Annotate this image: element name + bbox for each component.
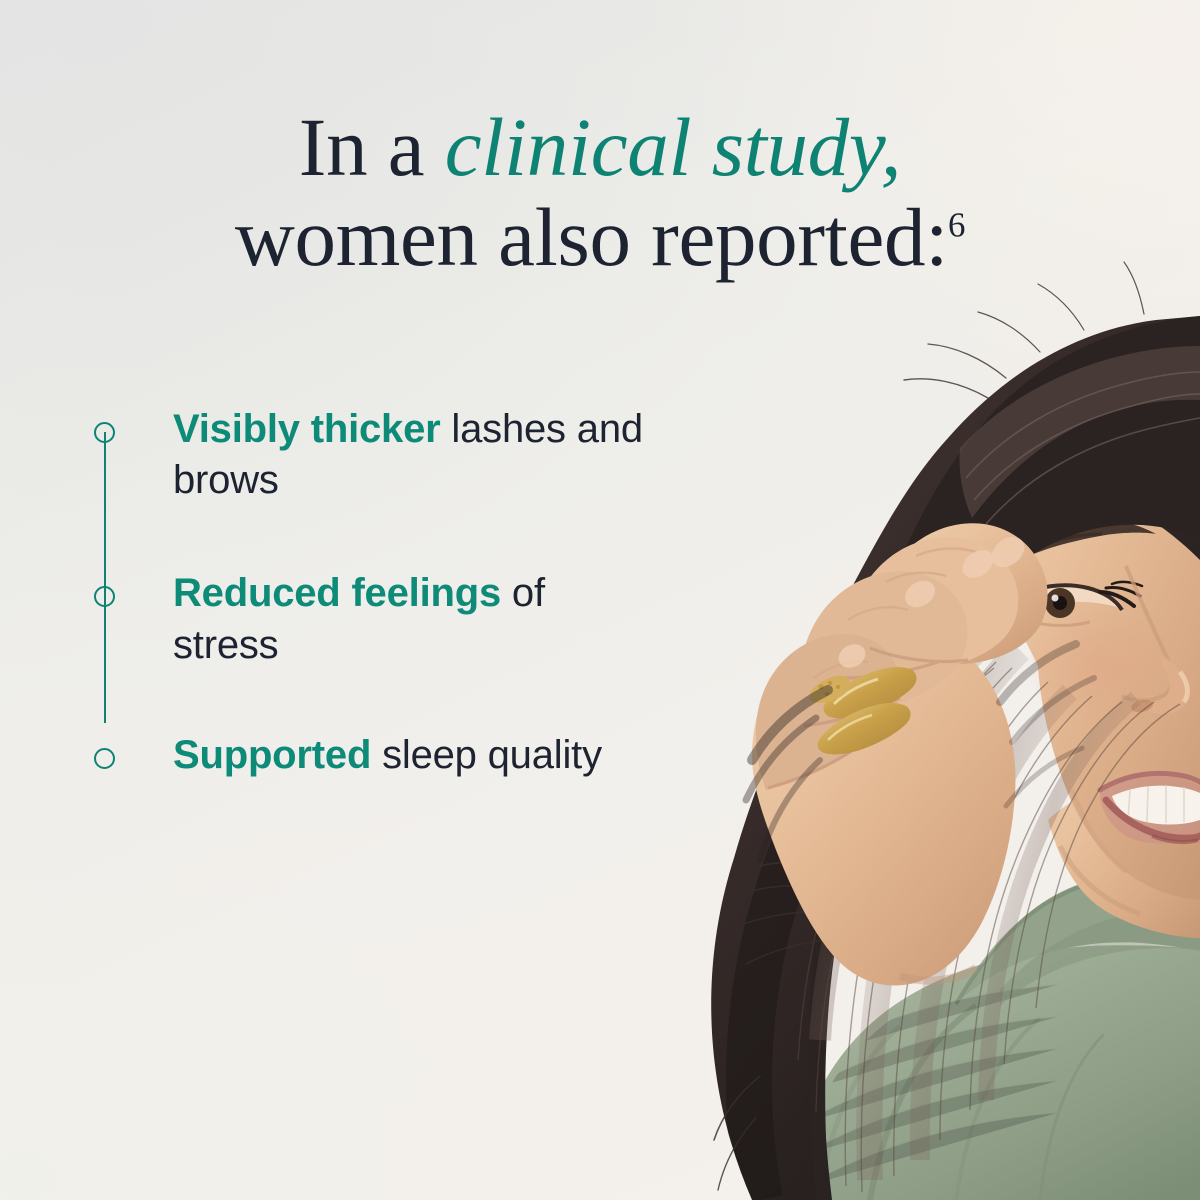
list-item: Supported sleep quality [94, 730, 654, 786]
footnote-marker: 6 [948, 205, 965, 244]
benefit-text: Supported sleep quality [173, 730, 654, 781]
circle-outline-icon [94, 748, 115, 769]
benefit-text: Reduced feelings of stress [173, 568, 654, 670]
circle-outline-icon [94, 586, 115, 607]
benefits-list: Visibly thicker lashes and brows Reduced… [94, 404, 654, 786]
list-item: Reduced feelings of stress [94, 568, 654, 670]
list-item: Visibly thicker lashes and brows [94, 404, 654, 506]
headline-emphasis: clinical study, [445, 101, 902, 193]
headline-line1-prefix: In a [299, 101, 445, 193]
headline: In a clinical study, women also reported… [0, 104, 1200, 282]
benefit-highlight: Visibly thicker [173, 407, 441, 451]
promo-card: In a clinical study, women also reported… [0, 0, 1200, 1200]
headline-line2: women also reported: [235, 191, 948, 283]
benefit-highlight: Reduced feelings [173, 571, 501, 615]
circle-outline-icon [94, 422, 115, 443]
benefit-text: Visibly thicker lashes and brows [173, 404, 654, 506]
benefit-highlight: Supported [173, 733, 371, 777]
benefit-rest: sleep quality [371, 733, 602, 777]
